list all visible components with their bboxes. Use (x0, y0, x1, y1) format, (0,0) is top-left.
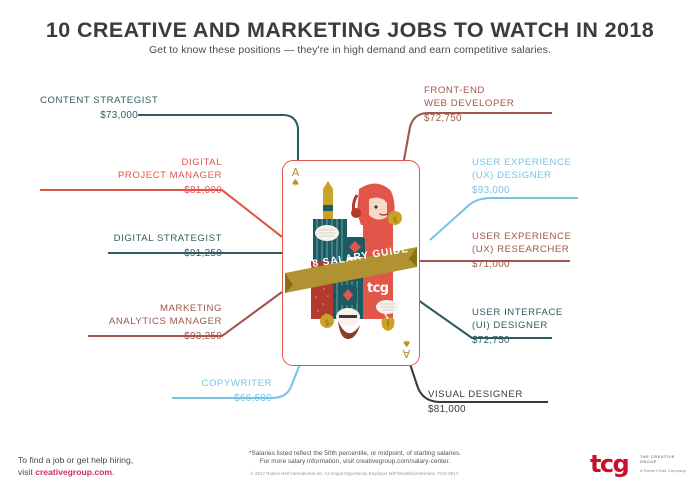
job-role-line2: WEB DEVELOPER (424, 98, 514, 111)
job-role-line2: PROJECT MANAGER (40, 170, 222, 183)
callout-ux-designer[interactable]: USER EXPERIENCE (UX) DESIGNER $93,000 (472, 157, 571, 197)
callout-marketing-analytics-manager[interactable]: MARKETING ANALYTICS MANAGER $93,250 (40, 303, 222, 343)
footnote-line2: For more salary information, visit creat… (210, 458, 500, 466)
spade-icon: ♠ (291, 179, 300, 189)
job-role-line2: (UX) RESEARCHER (472, 244, 571, 257)
tcg-logo[interactable]: tcg THE CREATIVE GROUP A Robert Half Com… (590, 452, 688, 482)
job-role-line2: ANALYTICS MANAGER (40, 316, 222, 329)
card-tcg-logo: tcg (367, 281, 388, 296)
tcg-tagline-top: THE CREATIVE GROUP (640, 455, 688, 464)
card-pip-bottom-right: A ♠ (402, 337, 411, 358)
job-salary: $81,000 (40, 185, 222, 198)
copyright-line: © 2017 Robert Half International Inc. An… (210, 471, 500, 477)
card-illustration: $ $ (283, 161, 419, 365)
creativegroup-link[interactable]: creativegroup.com (35, 467, 112, 477)
job-salary: $91,250 (60, 248, 222, 261)
card-pip-top-left: A ♠ (291, 168, 300, 189)
callout-ux-researcher[interactable]: USER EXPERIENCE (UX) RESEARCHER $71,000 (472, 231, 571, 271)
footer-cta-period: . (112, 467, 114, 477)
card-rank: A (402, 348, 411, 358)
job-salary: $72,750 (472, 335, 563, 348)
job-salary: $93,000 (472, 185, 571, 198)
job-role-line1: USER INTERFACE (472, 307, 563, 320)
connector-content-strategist (138, 115, 298, 160)
job-salary: $81,000 (428, 404, 523, 417)
job-role-line1: FRONT-END (424, 85, 514, 98)
footer-cta-line1: To find a job or get help hiring, (18, 455, 133, 465)
job-role: CONTENT STRATEGIST (40, 95, 138, 108)
card-rank: A (291, 168, 300, 178)
job-salary: $66,500 (150, 393, 272, 406)
callout-front-end-web-developer[interactable]: FRONT-END WEB DEVELOPER $72,750 (424, 85, 514, 125)
job-role-line1: DIGITAL (40, 157, 222, 170)
job-role: VISUAL DESIGNER (428, 389, 523, 402)
footer-cta-visit: visit (18, 467, 35, 477)
job-salary: $73,000 (40, 110, 138, 123)
callout-ui-designer[interactable]: USER INTERFACE (UI) DESIGNER $72,750 (472, 307, 563, 347)
job-role-line2: (UX) DESIGNER (472, 170, 571, 183)
spade-icon: ♠ (402, 337, 411, 347)
job-role-line2: (UI) DESIGNER (472, 320, 563, 333)
footnote: *Salaries listed reflect the 50th percen… (210, 450, 500, 477)
job-salary: $71,000 (472, 259, 571, 272)
infographic-canvas: 10 CREATIVE AND MARKETING JOBS TO WATCH … (0, 0, 700, 492)
salary-guide-card[interactable]: $ $ 2018 SALARY GUIDE tcg (282, 160, 420, 366)
callout-digital-strategist[interactable]: DIGITAL STRATEGIST $91,250 (60, 233, 222, 261)
footnote-line1: *Salaries listed reflect the 50th percen… (210, 450, 500, 458)
job-salary: $93,250 (40, 331, 222, 344)
callout-copywriter[interactable]: COPYWRITER $66,500 (150, 378, 272, 406)
job-role-line1: USER EXPERIENCE (472, 157, 571, 170)
callout-visual-designer[interactable]: VISUAL DESIGNER $81,000 (428, 389, 523, 417)
job-role: COPYWRITER (150, 378, 272, 391)
job-role: DIGITAL STRATEGIST (60, 233, 222, 246)
job-role-line1: MARKETING (40, 303, 222, 316)
job-role-line1: USER EXPERIENCE (472, 231, 571, 244)
callout-digital-project-manager[interactable]: DIGITAL PROJECT MANAGER $81,000 (40, 157, 222, 197)
footer-cta: To find a job or get help hiring, visit … (18, 455, 133, 478)
svg-text:$: $ (324, 318, 329, 327)
tcg-tagline-bottom: A Robert Half Company (640, 468, 688, 473)
tcg-wordmark: tcg (590, 452, 628, 476)
svg-text:$: $ (392, 215, 397, 224)
job-salary: $72,750 (424, 113, 514, 126)
callout-content-strategist[interactable]: CONTENT STRATEGIST $73,000 (40, 95, 138, 123)
tcg-tagline: THE CREATIVE GROUP A Robert Half Company (640, 455, 688, 473)
